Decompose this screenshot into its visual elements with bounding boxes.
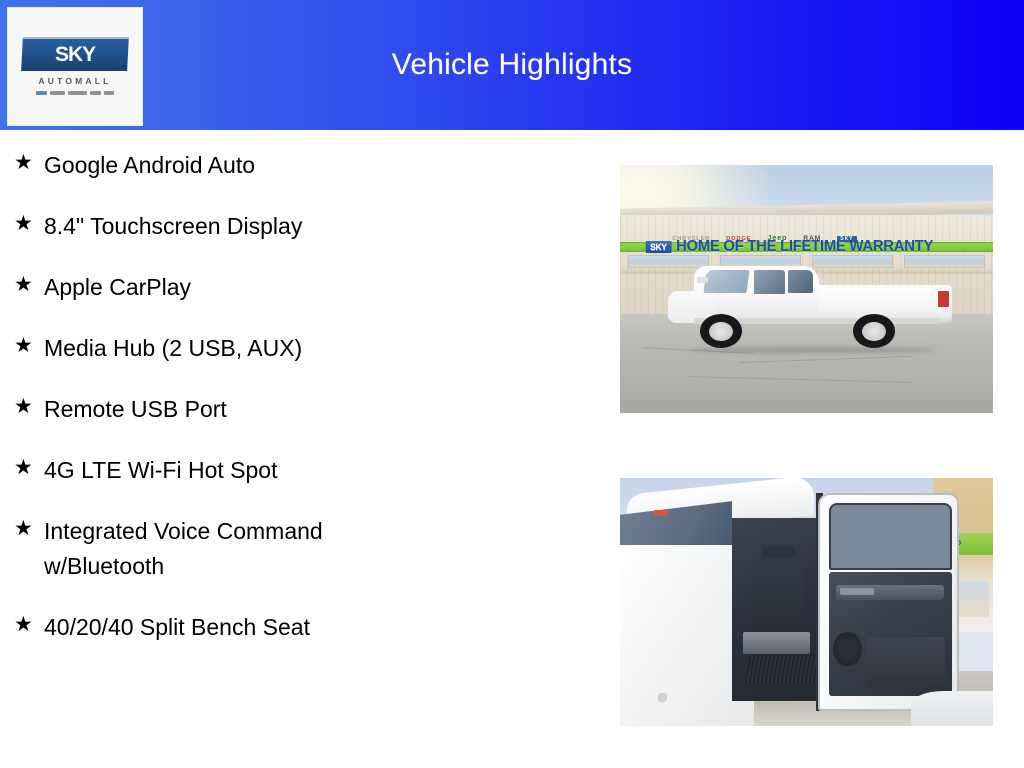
slide-header: Vehicle Highlights xyxy=(0,0,1024,130)
truck-rear-wheel xyxy=(853,314,896,348)
truck-front-window xyxy=(754,270,785,293)
cab-marker-light xyxy=(654,510,669,516)
snow-patch xyxy=(911,691,993,726)
banner-slogan: HOME OF THE LIFETIME WARRANTY xyxy=(676,238,933,256)
list-item: ★ 8.4" Touchscreen Display xyxy=(14,209,584,244)
bench-seat-cushion xyxy=(743,632,810,654)
vehicle-highlights-slide: Vehicle Highlights SKY AUTOMALL ★ Google… xyxy=(0,0,1024,768)
star-bullet-icon: ★ xyxy=(14,209,44,239)
pavement-crack xyxy=(687,376,911,383)
truck-rear-window xyxy=(788,270,814,292)
dealer-logo-inner: SKY AUTOMALL xyxy=(22,37,128,97)
list-item-label: 8.4" Touchscreen Display xyxy=(44,209,302,244)
vehicle-interior-photo: SKY HO xyxy=(620,478,993,726)
list-item-label: 40/20/40 Split Bench Seat xyxy=(44,610,310,645)
chrysler-mark-icon xyxy=(36,91,47,95)
sky-wordmark-banner: SKY xyxy=(21,37,129,71)
list-item-label: Google Android Auto xyxy=(44,148,255,183)
bench-seat-back xyxy=(754,557,802,641)
list-item: ★ 4G LTE Wi-Fi Hot Spot xyxy=(14,453,584,488)
highlights-list: ★ Google Android Auto ★ 8.4" Touchscreen… xyxy=(14,148,584,671)
star-bullet-icon: ★ xyxy=(14,331,44,361)
star-bullet-icon: ★ xyxy=(14,610,44,640)
sky-wordmark: SKY xyxy=(55,43,95,67)
automall-wordmark: AUTOMALL xyxy=(22,76,128,86)
page-title: Vehicle Highlights xyxy=(0,0,1024,130)
sky-mark-icon xyxy=(104,91,114,95)
list-item-label: 4G LTE Wi-Fi Hot Spot xyxy=(44,453,277,488)
dealer-logo: SKY AUTOMALL xyxy=(7,7,143,126)
list-item: ★ Apple CarPlay xyxy=(14,270,584,305)
star-bullet-icon: ★ xyxy=(14,392,44,422)
star-bullet-icon: ★ xyxy=(14,514,44,544)
door-storage-pocket xyxy=(866,637,944,687)
list-item-label: Integrated Voice Command w/Bluetooth xyxy=(44,514,323,584)
ram-mark-icon xyxy=(90,91,101,95)
truck-exterior-handle xyxy=(658,693,667,702)
dodge-mark-icon xyxy=(50,91,65,95)
list-item-label: Remote USB Port xyxy=(44,392,227,427)
list-item: ★ Integrated Voice Command w/Bluetooth xyxy=(14,514,584,584)
list-item: ★ Media Hub (2 USB, AUX) xyxy=(14,331,584,366)
pavement-crack xyxy=(739,356,911,363)
truck-side-mirror xyxy=(697,277,708,283)
star-bullet-icon: ★ xyxy=(14,148,44,178)
door-window-glass xyxy=(829,503,952,570)
list-item: ★ 40/20/40 Split Bench Seat xyxy=(14,610,584,645)
banner-sky-logo: SKY xyxy=(645,241,671,253)
lifetime-warranty-banner: SKY HOME OF THE LIFETIME WARRANTY xyxy=(620,242,993,252)
interior-door-handle xyxy=(840,588,874,595)
truck-taillight xyxy=(938,291,949,307)
star-bullet-icon: ★ xyxy=(14,270,44,300)
banner-text-row: SKY HOME OF THE LIFETIME WARRANTY xyxy=(627,243,985,251)
star-bullet-icon: ★ xyxy=(14,453,44,483)
truck-front-wheel xyxy=(700,314,743,348)
oem-brand-marks xyxy=(22,89,128,97)
list-item-label: Media Hub (2 USB, AUX) xyxy=(44,331,302,366)
jeep-mark-icon xyxy=(68,91,87,95)
list-item: ★ Google Android Auto xyxy=(14,148,584,183)
list-item: ★ Remote USB Port xyxy=(14,392,584,427)
floor-mat xyxy=(744,654,824,684)
pickup-truck xyxy=(668,264,951,353)
vehicle-exterior-photo: CHRYSLER DODGE Jeep RAM SKY SKY HOME OF … xyxy=(620,165,993,413)
list-item-label: Apple CarPlay xyxy=(44,270,191,305)
truck-windshield xyxy=(704,270,750,293)
truck-shadow xyxy=(691,347,935,352)
